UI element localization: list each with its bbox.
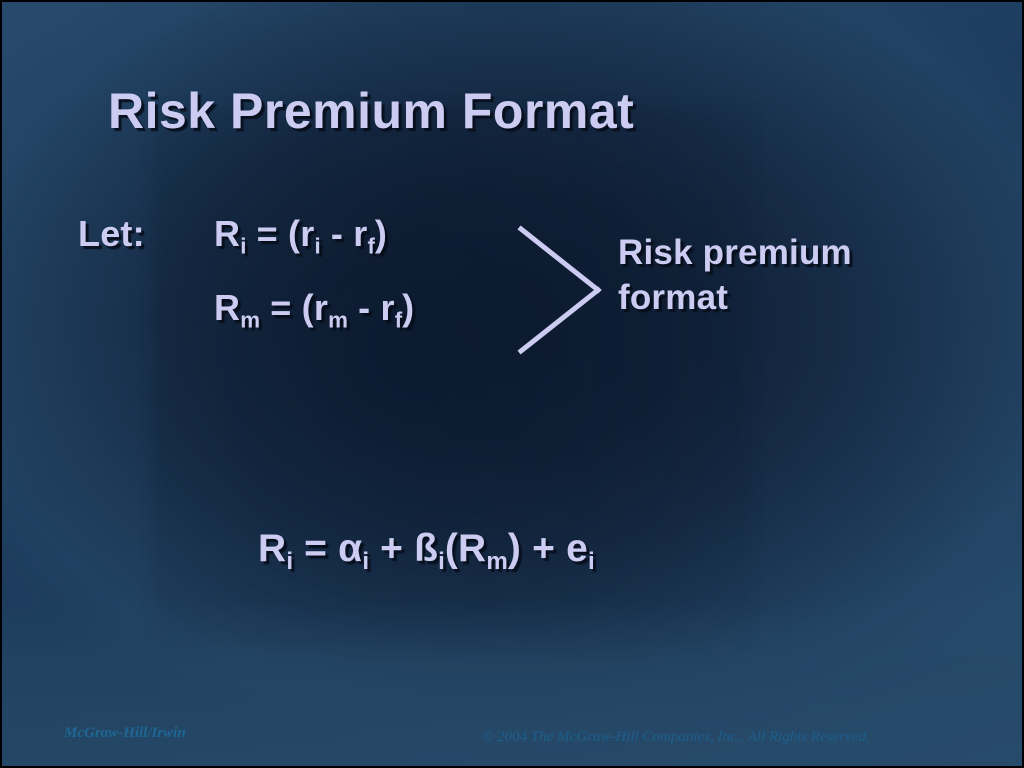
def1-rhs-mid: - r	[321, 213, 368, 254]
callout-line-1: Risk premium	[618, 230, 988, 275]
risk-premium-callout: Risk premium format	[618, 230, 988, 320]
grouping-brace-icon	[518, 226, 604, 354]
eq-plus-2: +	[521, 527, 566, 570]
def1-rhs-subscript-2: f	[367, 233, 374, 258]
copyright-notice: © 2004 The McGraw-Hill Companies, Inc., …	[482, 729, 870, 746]
def2-rhs-open: = (r	[260, 287, 328, 328]
def1-rhs-close: )	[375, 213, 387, 254]
def2-rhs-close: )	[402, 287, 414, 328]
def1-rhs-open: = (r	[246, 213, 314, 254]
def1-lhs: R	[214, 213, 240, 254]
eq-beta-subscript: i	[438, 548, 445, 575]
def2-rhs-subscript-1: m	[328, 307, 348, 332]
def2-lhs: R	[214, 287, 240, 328]
eq-e-subscript: i	[588, 548, 595, 575]
slide-canvas: Risk Premium Format Let: Ri = (ri - rf) …	[0, 0, 1024, 768]
eq-R: R	[258, 527, 286, 570]
eq-open-paren: (	[445, 527, 458, 570]
page-title: Risk Premium Format	[108, 82, 634, 140]
let-label: Let:	[78, 212, 145, 256]
definition-equation-1: Ri = (ri - rf)	[214, 212, 387, 268]
def2-rhs-mid: - r	[348, 287, 395, 328]
callout-line-2: format	[618, 275, 988, 320]
eq-close-paren: )	[508, 527, 521, 570]
eq-equals: =	[293, 527, 338, 570]
model-equation: Ri = αi + ßi(Rm) + ei	[258, 524, 595, 587]
eq-e: e	[566, 527, 588, 570]
publisher-brand: McGraw-Hill/Irwin	[64, 725, 186, 742]
eq-Rm: R	[458, 527, 486, 570]
eq-Rm-subscript: m	[486, 548, 508, 575]
eq-beta: ß	[414, 527, 438, 570]
eq-alpha: α	[338, 527, 362, 570]
def2-lhs-subscript: m	[240, 307, 260, 332]
eq-plus-1: +	[369, 527, 414, 570]
definition-equation-2: Rm = (rm - rf)	[214, 286, 414, 342]
